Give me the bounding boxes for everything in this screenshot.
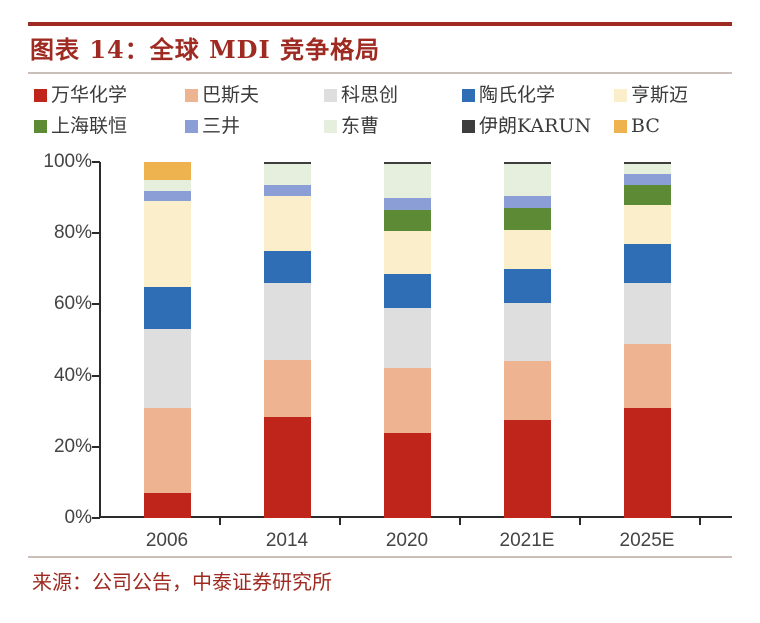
legend-label: 上海联恒 xyxy=(51,117,127,136)
bar-segment-上海联恒[interactable] xyxy=(624,185,671,205)
legend-item-东曹[interactable]: 东曹 xyxy=(324,117,379,136)
legend-label: 亨斯迈 xyxy=(631,86,688,105)
y-axis-tick-label: 0% xyxy=(28,507,92,529)
x-axis-tick-label: 2021E xyxy=(482,530,572,552)
bar-segment-亨斯迈[interactable] xyxy=(624,205,671,244)
bar-segment-三井[interactable] xyxy=(624,174,671,185)
y-axis-tick xyxy=(92,161,100,163)
bar-segment-巴斯夫[interactable] xyxy=(384,368,431,432)
legend-label: 三井 xyxy=(202,117,240,136)
bar-segment-陶氏化学[interactable] xyxy=(144,287,191,330)
legend-item-三井[interactable]: 三井 xyxy=(185,117,240,136)
bar-2014[interactable] xyxy=(264,162,311,518)
y-axis-line xyxy=(99,162,101,518)
legend-swatch-icon xyxy=(185,120,198,133)
bar-2025E[interactable] xyxy=(624,162,671,518)
bar-2020[interactable] xyxy=(384,162,431,518)
bar-segment-巴斯夫[interactable] xyxy=(624,344,671,408)
legend-label: 科思创 xyxy=(341,86,398,105)
legend-item-BC[interactable]: BC xyxy=(614,117,660,136)
legend-item-陶氏化学[interactable]: 陶氏化学 xyxy=(462,86,555,105)
legend-item-伊朗KARUN[interactable]: 伊朗KARUN xyxy=(462,117,591,136)
y-axis-tick-label: 100% xyxy=(28,151,92,173)
x-axis-tick xyxy=(339,516,341,525)
bar-segment-上海联恒[interactable] xyxy=(504,208,551,229)
bar-segment-科思创[interactable] xyxy=(384,308,431,369)
x-axis-tick xyxy=(579,516,581,525)
y-axis-tick-label: 20% xyxy=(28,436,92,458)
legend-item-亨斯迈[interactable]: 亨斯迈 xyxy=(614,86,688,105)
legend-label: 东曹 xyxy=(341,117,379,136)
bar-segment-巴斯夫[interactable] xyxy=(264,360,311,417)
bar-segment-万华化学[interactable] xyxy=(264,417,311,518)
bar-segment-东曹[interactable] xyxy=(144,180,191,191)
bar-segment-陶氏化学[interactable] xyxy=(624,244,671,283)
x-axis-tick xyxy=(459,516,461,525)
bar-segment-万华化学[interactable] xyxy=(624,408,671,518)
legend-label: BC xyxy=(631,117,660,136)
legend-swatch-icon xyxy=(324,89,337,102)
bar-segment-亨斯迈[interactable] xyxy=(384,231,431,274)
bar-segment-东曹[interactable] xyxy=(504,164,551,196)
bar-segment-三井[interactable] xyxy=(144,191,191,202)
bar-segment-三井[interactable] xyxy=(504,196,551,208)
bar-segment-亨斯迈[interactable] xyxy=(504,230,551,269)
source-note: 来源：公司公告，中泰证券研究所 xyxy=(32,566,332,595)
bar-segment-亨斯迈[interactable] xyxy=(264,196,311,251)
bar-segment-科思创[interactable] xyxy=(624,283,671,344)
bar-segment-巴斯夫[interactable] xyxy=(144,408,191,493)
bar-2021E[interactable] xyxy=(504,162,551,518)
footer-divider xyxy=(28,556,732,558)
x-axis-tick-label: 2014 xyxy=(242,530,332,552)
bar-2006[interactable] xyxy=(144,162,191,518)
legend-label: 万华化学 xyxy=(51,86,127,105)
bar-segment-万华化学[interactable] xyxy=(144,493,191,518)
legend-item-巴斯夫[interactable]: 巴斯夫 xyxy=(185,86,259,105)
legend-label: 伊朗KARUN xyxy=(479,117,591,136)
y-axis-tick xyxy=(92,446,100,448)
legend-row-2: 上海联恒三井东曹伊朗KARUNBC xyxy=(34,111,734,141)
y-axis-tick-label: 60% xyxy=(28,293,92,315)
x-axis-tick xyxy=(699,516,701,525)
chart-legend: 万华化学巴斯夫科思创陶氏化学亨斯迈 上海联恒三井东曹伊朗KARUNBC xyxy=(34,80,734,142)
bar-segment-上海联恒[interactable] xyxy=(384,210,431,231)
bar-segment-万华化学[interactable] xyxy=(384,433,431,518)
x-axis-tick-label: 2006 xyxy=(122,530,212,552)
bar-segment-东曹[interactable] xyxy=(384,164,431,198)
y-axis-tick xyxy=(92,375,100,377)
bar-segment-陶氏化学[interactable] xyxy=(384,274,431,308)
legend-label: 陶氏化学 xyxy=(479,86,555,105)
y-axis-tick-label: 40% xyxy=(28,365,92,387)
plot-area: 0%20%40%60%80%100% 2006201420202021E2025… xyxy=(0,150,760,525)
legend-label: 巴斯夫 xyxy=(202,86,259,105)
y-axis-tick xyxy=(92,303,100,305)
x-axis-tick-label: 2025E xyxy=(602,530,692,552)
bar-segment-三井[interactable] xyxy=(264,185,311,196)
figure-card: 图表 14：全球 MDI 竞争格局 万华化学巴斯夫科思创陶氏化学亨斯迈 上海联恒… xyxy=(0,0,760,623)
bar-segment-亨斯迈[interactable] xyxy=(144,201,191,286)
legend-row-1: 万华化学巴斯夫科思创陶氏化学亨斯迈 xyxy=(34,80,734,110)
legend-item-万华化学[interactable]: 万华化学 xyxy=(34,86,127,105)
bar-segment-科思创[interactable] xyxy=(144,329,191,407)
bar-segment-万华化学[interactable] xyxy=(504,420,551,518)
header-rule xyxy=(28,22,732,26)
bar-segment-BC[interactable] xyxy=(144,162,191,180)
legend-swatch-icon xyxy=(34,89,47,102)
title-divider xyxy=(28,72,732,74)
y-axis-tick-label: 80% xyxy=(28,222,92,244)
legend-item-上海联恒[interactable]: 上海联恒 xyxy=(34,117,127,136)
legend-swatch-icon xyxy=(462,89,475,102)
legend-swatch-icon xyxy=(185,89,198,102)
legend-item-科思创[interactable]: 科思创 xyxy=(324,86,398,105)
bar-segment-东曹[interactable] xyxy=(264,164,311,185)
y-axis-tick xyxy=(92,232,100,234)
bar-segment-东曹[interactable] xyxy=(624,164,671,175)
bar-segment-科思创[interactable] xyxy=(504,303,551,362)
bar-segment-巴斯夫[interactable] xyxy=(504,361,551,420)
x-axis-tick xyxy=(219,516,221,525)
legend-swatch-icon xyxy=(462,120,475,133)
x-axis-tick-label: 2020 xyxy=(362,530,452,552)
y-axis-tick xyxy=(92,517,100,519)
legend-swatch-icon xyxy=(34,120,47,133)
bar-segment-陶氏化学[interactable] xyxy=(264,251,311,283)
bar-segment-三井[interactable] xyxy=(384,198,431,210)
page-title: 图表 14：全球 MDI 竞争格局 xyxy=(30,30,380,65)
legend-swatch-icon xyxy=(324,120,337,133)
bar-segment-科思创[interactable] xyxy=(264,283,311,360)
bar-segment-陶氏化学[interactable] xyxy=(504,269,551,303)
legend-swatch-icon xyxy=(614,120,627,133)
legend-swatch-icon xyxy=(614,89,627,102)
